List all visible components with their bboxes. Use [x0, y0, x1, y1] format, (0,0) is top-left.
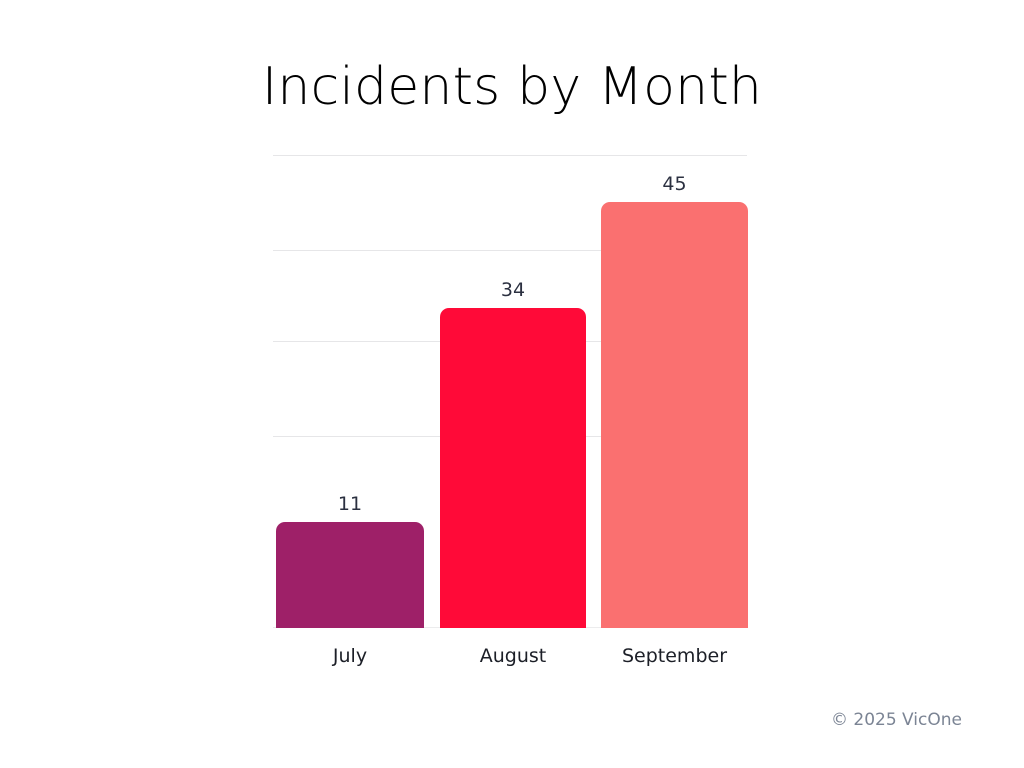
bar-september[interactable] [601, 202, 748, 628]
category-label-july: July [276, 645, 424, 667]
bar-value-july: 11 [276, 493, 424, 515]
bar-value-september: 45 [601, 173, 748, 195]
footer-credit: © 2025 VicOne [831, 710, 962, 730]
bar-august[interactable] [440, 308, 586, 628]
plot-area: 11 34 45 [273, 155, 747, 628]
page-title: Incidents by Month [0, 58, 1024, 118]
bars-layer: 11 34 45 [273, 155, 747, 628]
bar-group-september: 45 [601, 155, 748, 628]
category-axis: July August September [273, 645, 747, 675]
category-label-august: August [440, 645, 586, 667]
bar-july[interactable] [276, 522, 424, 628]
chart-card: Incidents by Month 11 34 45 July August … [0, 0, 1024, 768]
bar-group-august: 34 [440, 155, 586, 628]
category-label-september: September [601, 645, 748, 667]
bar-group-july: 11 [276, 155, 424, 628]
bar-value-august: 34 [440, 279, 586, 301]
